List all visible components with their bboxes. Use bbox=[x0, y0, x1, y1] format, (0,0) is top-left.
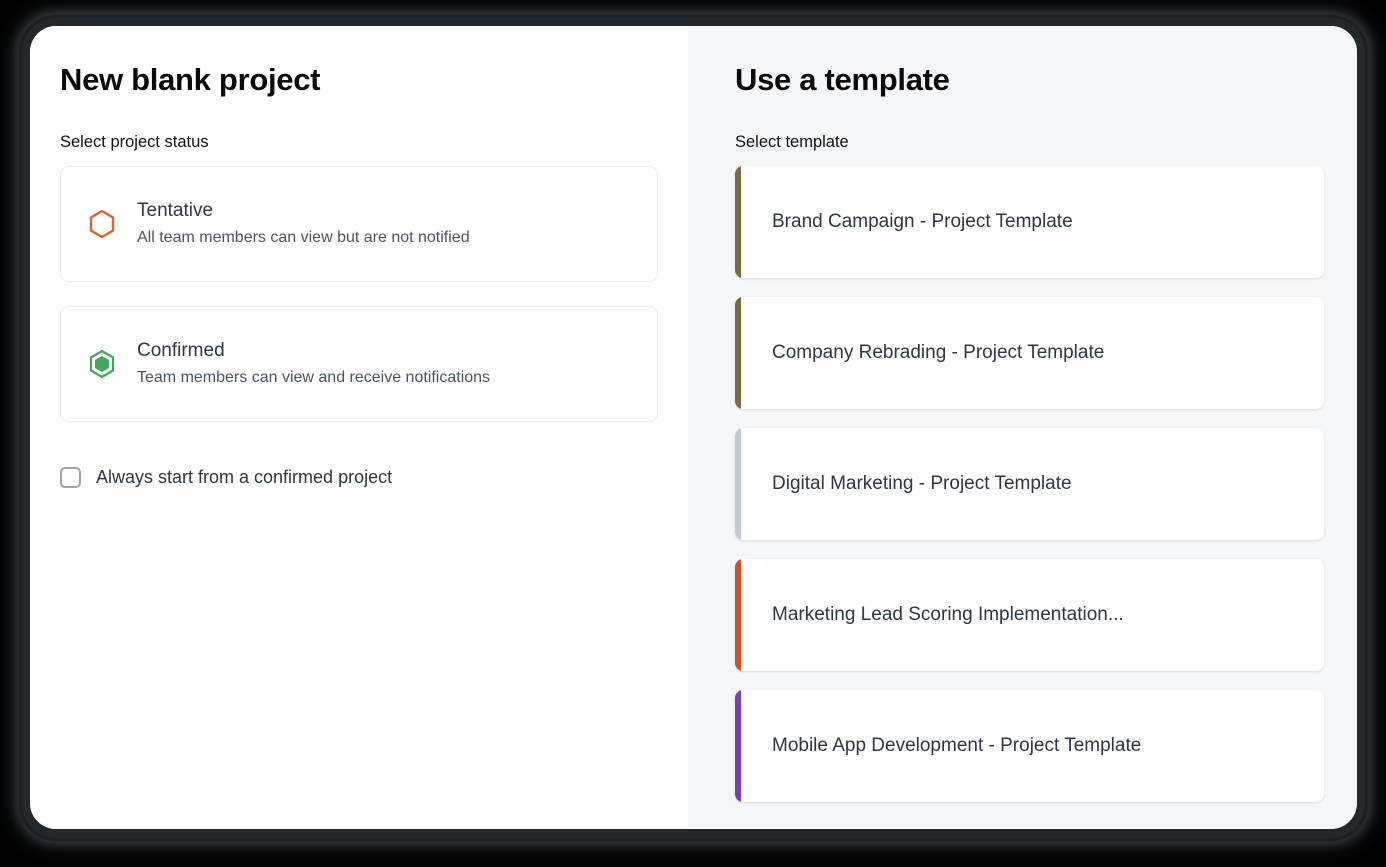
status-option-tentative[interactable]: Tentative All team members can view but … bbox=[60, 166, 658, 282]
project-status-list: Tentative All team members can view but … bbox=[60, 166, 658, 422]
page-title-use-a-template: Use a template bbox=[735, 62, 1324, 98]
template-list: Brand Campaign - Project Template Compan… bbox=[735, 166, 1324, 802]
screen-root: New blank project Select project status … bbox=[0, 0, 1386, 867]
template-card-company-rebrading[interactable]: Company Rebrading - Project Template bbox=[735, 297, 1324, 409]
template-card-brand-campaign[interactable]: Brand Campaign - Project Template bbox=[735, 166, 1324, 278]
template-accent-bar bbox=[735, 559, 741, 671]
template-accent-bar bbox=[735, 297, 741, 409]
checkbox-icon[interactable] bbox=[60, 467, 81, 488]
use-a-template-pane: Use a template Select template Brand Cam… bbox=[688, 26, 1357, 829]
template-name: Marketing Lead Scoring Implementation... bbox=[772, 604, 1124, 626]
template-card-marketing-lead-scoring[interactable]: Marketing Lead Scoring Implementation... bbox=[735, 559, 1324, 671]
always-confirmed-checkbox-label: Always start from a confirmed project bbox=[96, 467, 392, 488]
select-template-label: Select template bbox=[735, 133, 1324, 152]
hexagon-outline-icon bbox=[87, 209, 117, 239]
template-card-digital-marketing[interactable]: Digital Marketing - Project Template bbox=[735, 428, 1324, 540]
template-name: Brand Campaign - Project Template bbox=[772, 211, 1073, 233]
template-card-mobile-app-development[interactable]: Mobile App Development - Project Templat… bbox=[735, 690, 1324, 802]
status-option-confirmed[interactable]: Confirmed Team members can view and rece… bbox=[60, 306, 658, 422]
status-option-description: Team members can view and receive notifi… bbox=[137, 369, 490, 387]
status-option-name: Tentative bbox=[137, 201, 470, 222]
template-name: Mobile App Development - Project Templat… bbox=[772, 735, 1141, 757]
template-accent-bar bbox=[735, 166, 741, 278]
status-option-name: Confirmed bbox=[137, 341, 490, 362]
always-confirmed-checkbox-row[interactable]: Always start from a confirmed project bbox=[60, 467, 658, 488]
status-option-description: All team members can view but are not no… bbox=[137, 229, 470, 247]
hexagon-filled-icon bbox=[87, 349, 117, 379]
template-name: Digital Marketing - Project Template bbox=[772, 473, 1072, 495]
page-title-new-blank-project: New blank project bbox=[60, 62, 658, 98]
new-blank-project-pane: New blank project Select project status … bbox=[30, 26, 688, 829]
template-accent-bar bbox=[735, 690, 741, 802]
select-project-status-label: Select project status bbox=[60, 133, 658, 152]
template-name: Company Rebrading - Project Template bbox=[772, 342, 1104, 364]
dialog-panel: New blank project Select project status … bbox=[30, 26, 1357, 829]
template-accent-bar bbox=[735, 428, 741, 540]
